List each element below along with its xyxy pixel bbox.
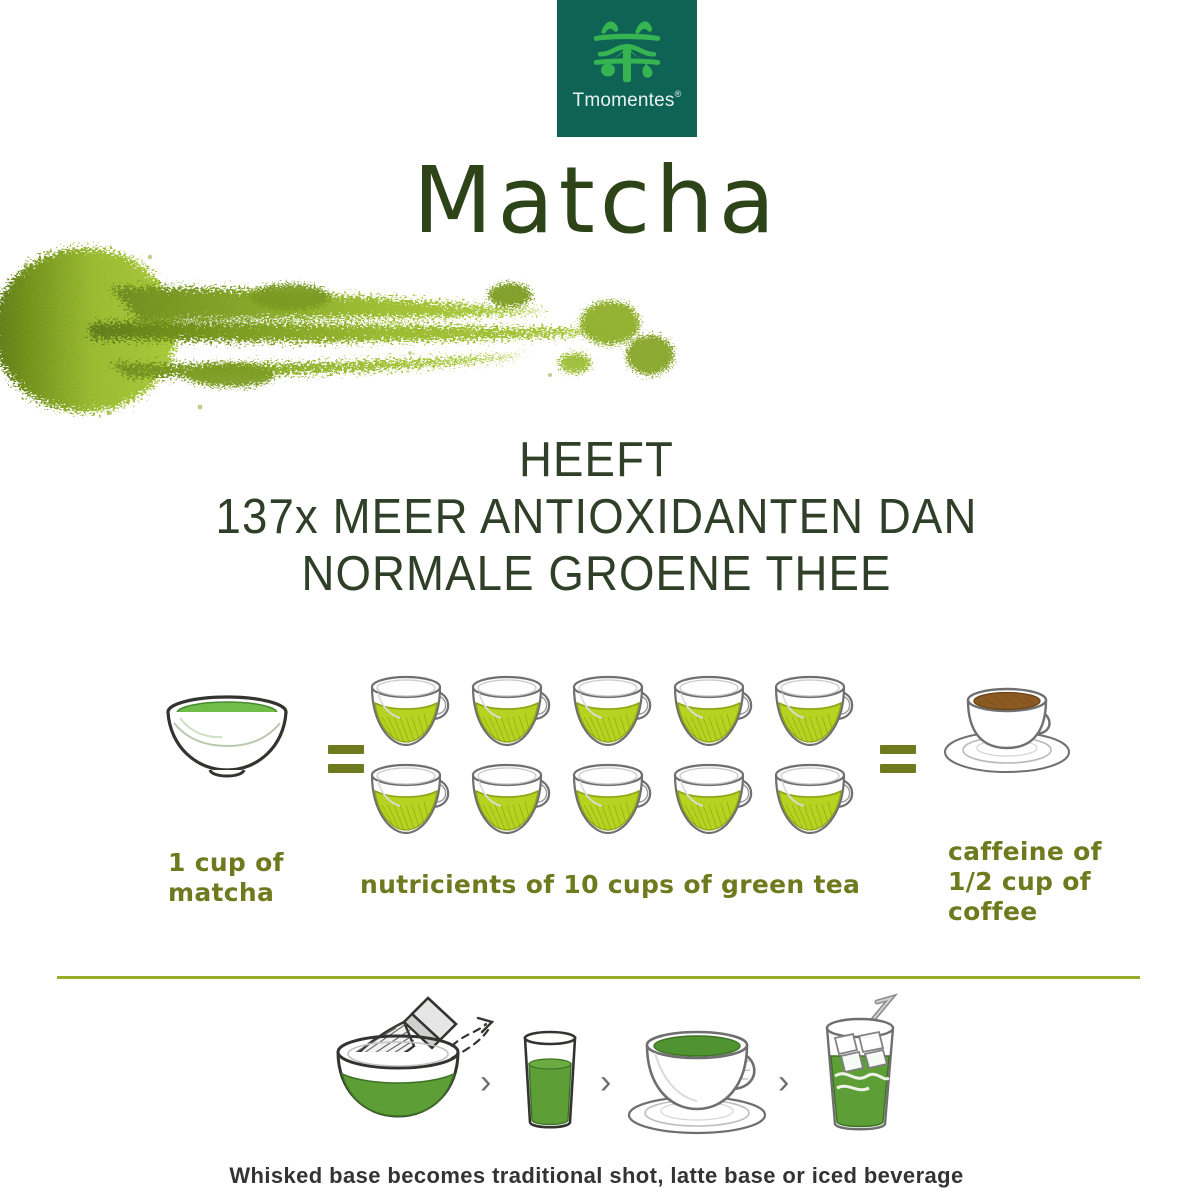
equals-bar (880, 764, 916, 773)
green-tea-cup (465, 673, 560, 751)
equals-bar (328, 764, 364, 773)
comparison-row: 1 cup of matcha nutricients of 10 cups o… (0, 665, 1193, 945)
green-tea-cup (566, 673, 661, 751)
caption-matcha-line-1: 1 cup of (168, 848, 284, 877)
green-tea-cup (667, 673, 762, 751)
shot-glass-icon (515, 1030, 585, 1135)
tea-character-icon (588, 14, 666, 86)
process-separator-2: › (600, 1063, 611, 1102)
caption-coffee-line-3: coffee (948, 897, 1037, 926)
green-tea-cup-grid (364, 673, 869, 838)
caption-matcha-line-2: matcha (168, 878, 274, 907)
process-separator-3: › (778, 1063, 789, 1102)
brand-name: Tmomentes (573, 90, 675, 111)
caption-matcha: 1 cup of matcha (168, 848, 378, 908)
headline-line-2: 137x MEER ANTIOXIDANTEN DAN (42, 489, 1151, 546)
caption-green-tea: nutricients of 10 cups of green tea (360, 870, 880, 900)
green-tea-cup (667, 761, 762, 839)
green-tea-cup (465, 761, 560, 839)
equals-sign-right (880, 745, 916, 777)
green-tea-cup (768, 761, 863, 839)
headline: HEEFT 137x MEER ANTIOXIDANTEN DAN NORMAL… (42, 432, 1151, 603)
equals-bar (328, 745, 364, 754)
brand-logo: Tmomentes® (557, 0, 697, 137)
iced-beverage-icon (805, 990, 915, 1138)
equals-sign-left (328, 745, 364, 777)
matcha-bowl-icon (160, 690, 295, 780)
latte-cup-icon (625, 1023, 780, 1138)
registered-mark-icon: ® (675, 89, 682, 99)
headline-line-3: NORMALE GROENE THEE (42, 546, 1151, 603)
green-tea-cup (566, 761, 661, 839)
caption-coffee-line-2: 1/2 cup of (948, 867, 1091, 896)
equals-bar (880, 745, 916, 754)
green-tea-cup (364, 673, 459, 751)
green-tea-cup (768, 673, 863, 751)
page-title: Matcha (0, 155, 1193, 247)
caption-coffee: caffeine of 1/2 cup of coffee (948, 837, 1168, 927)
matcha-powder-splash (0, 235, 690, 425)
section-divider (57, 976, 1140, 979)
coffee-cup-icon (940, 680, 1075, 785)
process-separator-1: › (480, 1063, 491, 1102)
process-row: › › › (0, 985, 1193, 1145)
green-tea-cup (364, 761, 459, 839)
brand-wordmark: Tmomentes® (573, 90, 682, 112)
caption-coffee-line-1: caffeine of (948, 837, 1102, 866)
process-caption: Whisked base becomes traditional shot, l… (0, 1163, 1193, 1189)
whisk-bowl-icon (328, 990, 498, 1140)
headline-line-1: HEEFT (42, 432, 1151, 489)
